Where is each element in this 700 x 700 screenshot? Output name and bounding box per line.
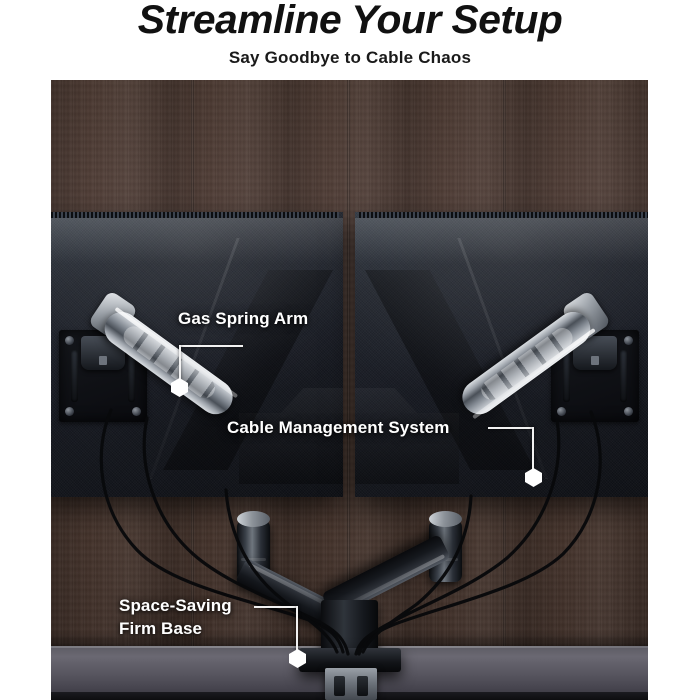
vesa-screw: [557, 407, 566, 416]
page-subtitle: Say Goodbye to Cable Chaos: [0, 47, 700, 69]
vesa-slot: [563, 350, 570, 402]
monitor-highlight: [355, 218, 648, 264]
page-title: Streamline Your Setup: [0, 0, 700, 42]
monitor-left: [51, 212, 343, 497]
leader-line-vertical: [532, 427, 534, 471]
callout-label-firm-base: Firm Base: [119, 618, 202, 640]
monitor-highlight: [51, 218, 343, 264]
callout-label-cable-management-system: Cable Management System: [227, 417, 449, 439]
clamp-bolt: [357, 676, 368, 696]
vesa-screw: [624, 336, 633, 345]
vesa-screw: [624, 407, 633, 416]
vesa-slot: [71, 350, 78, 402]
callout-label-gas-spring-arm: Gas Spring Arm: [178, 308, 308, 330]
vesa-slot: [620, 350, 627, 402]
leader-line-horizontal: [179, 345, 243, 347]
callout-label-space-saving: Space-Saving: [119, 595, 232, 617]
leader-line-vertical: [179, 345, 181, 383]
monitor-right: [355, 212, 648, 497]
vesa-screw: [132, 407, 141, 416]
leader-line-vertical: [296, 606, 298, 652]
vesa-screw: [65, 336, 74, 345]
wall-seam: [347, 80, 350, 646]
leader-line-horizontal: [254, 606, 298, 608]
vesa-screw: [65, 407, 74, 416]
leader-line-horizontal: [488, 427, 534, 429]
desk-clamp: [325, 668, 377, 700]
clamp-bolt: [334, 676, 345, 696]
header: Streamline Your Setup Say Goodbye to Cab…: [0, 0, 700, 80]
product-photo: Gas Spring Arm Cable Management System S…: [51, 80, 648, 700]
